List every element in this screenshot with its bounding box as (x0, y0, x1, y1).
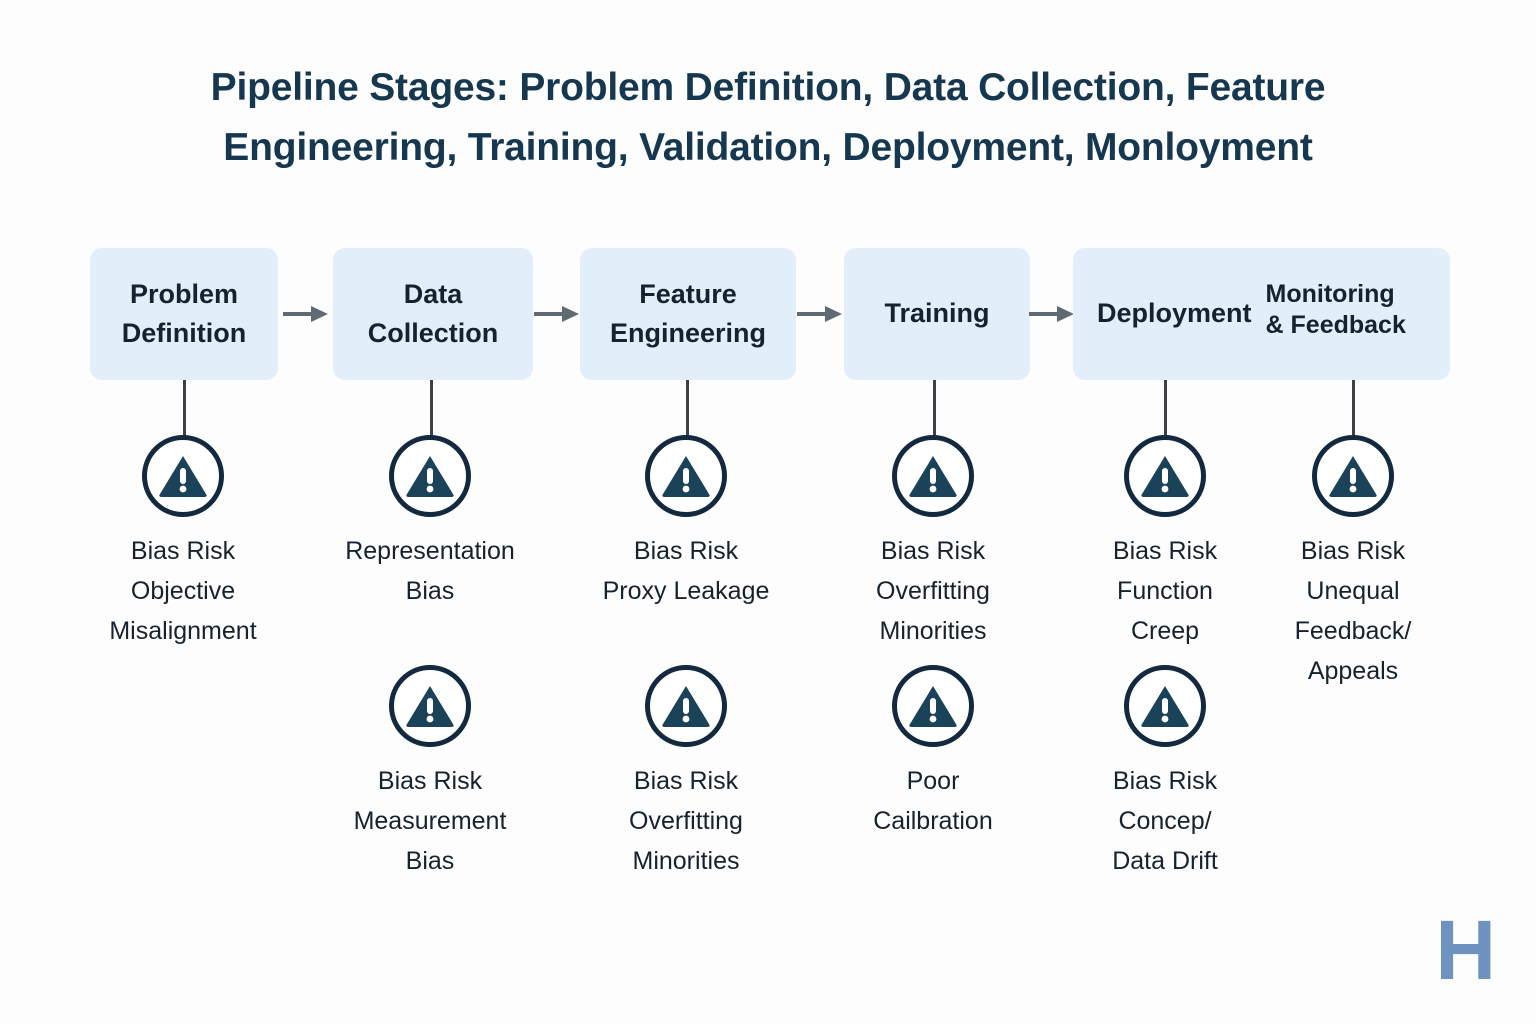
warning-triangle-icon (645, 665, 727, 747)
warning-triangle-icon (1312, 435, 1394, 517)
connector-stem-problem-definition (183, 380, 186, 440)
risk-label: Bias Risk Proxy Leakage (566, 531, 806, 611)
risk-label: Bias Risk Objective Misalignment (63, 531, 303, 651)
risk-label: Poor Cailbration (813, 761, 1053, 841)
arrow-right-icon-3 (797, 306, 843, 322)
risk-label: Bias Risk Overfitting Minorities (813, 531, 1053, 651)
risk-label: Bias Risk Concep/ Data Drift (1045, 761, 1285, 881)
risk-node-measurement-bias[interactable]: Bias Risk Measurement Bias (310, 665, 550, 881)
stage-label-deployment: Deployment (1097, 294, 1252, 333)
warning-triangle-icon (892, 435, 974, 517)
connector-stem-monitoring (1352, 380, 1355, 440)
page-title: Pipeline Stages: Problem Definition, Dat… (90, 58, 1446, 179)
warning-triangle-icon (892, 665, 974, 747)
stage-box-training[interactable]: Training (844, 248, 1030, 380)
stage-box-deployment-monitoring[interactable]: Deployment Monitoring & Feedback (1073, 248, 1450, 380)
risk-node-concept-data-drift[interactable]: Bias Risk Concep/ Data Drift (1045, 665, 1285, 881)
stage-box-problem-definition[interactable]: Problem Definition (90, 248, 278, 380)
risk-node-training-overfitting-minorities[interactable]: Bias Risk Overfitting Minorities (813, 435, 1053, 651)
risk-node-objective-misalignment[interactable]: Bias Risk Objective Misalignment (63, 435, 303, 651)
risk-node-representation-bias[interactable]: Representation Bias (310, 435, 550, 611)
stage-box-data-collection[interactable]: Data Collection (333, 248, 533, 380)
warning-triangle-icon (645, 435, 727, 517)
stage-label: Data Collection (368, 275, 499, 353)
warning-triangle-icon (142, 435, 224, 517)
stage-label: Problem Definition (122, 275, 246, 353)
arrow-right-icon-1 (283, 306, 329, 322)
risk-node-poor-calibration[interactable]: Poor Cailbration (813, 665, 1053, 841)
stage-label-monitoring-feedback: Monitoring & Feedback (1266, 279, 1406, 342)
warning-triangle-icon (1124, 435, 1206, 517)
arrow-right-icon-2 (534, 306, 580, 322)
h-logo-icon: H (1435, 908, 1494, 992)
pipeline-row: Problem Definition Data Collection Featu… (0, 248, 1536, 380)
connector-stem-data-collection (430, 380, 433, 440)
stage-label: Training (884, 294, 989, 333)
risk-label: Bias Risk Measurement Bias (310, 761, 550, 881)
risk-node-proxy-leakage[interactable]: Bias Risk Proxy Leakage (566, 435, 806, 611)
stage-label: Feature Engineering (610, 275, 766, 353)
risk-node-feature-overfitting-minorities[interactable]: Bias Risk Overfitting Minorities (566, 665, 806, 881)
warning-triangle-icon (389, 665, 471, 747)
connector-stem-feature-engineering (686, 380, 689, 440)
connector-stem-training (933, 380, 936, 440)
warning-triangle-icon (389, 435, 471, 517)
stage-box-feature-engineering[interactable]: Feature Engineering (580, 248, 796, 380)
connector-stem-deployment (1164, 380, 1167, 440)
risk-node-unequal-feedback-appeals[interactable]: Bias Risk Unequal Feedback/ Appeals (1233, 435, 1473, 691)
arrow-right-icon-4 (1029, 306, 1075, 322)
warning-triangle-icon (1124, 665, 1206, 747)
risk-label: Representation Bias (310, 531, 550, 611)
risk-label: Bias Risk Overfitting Minorities (566, 761, 806, 881)
